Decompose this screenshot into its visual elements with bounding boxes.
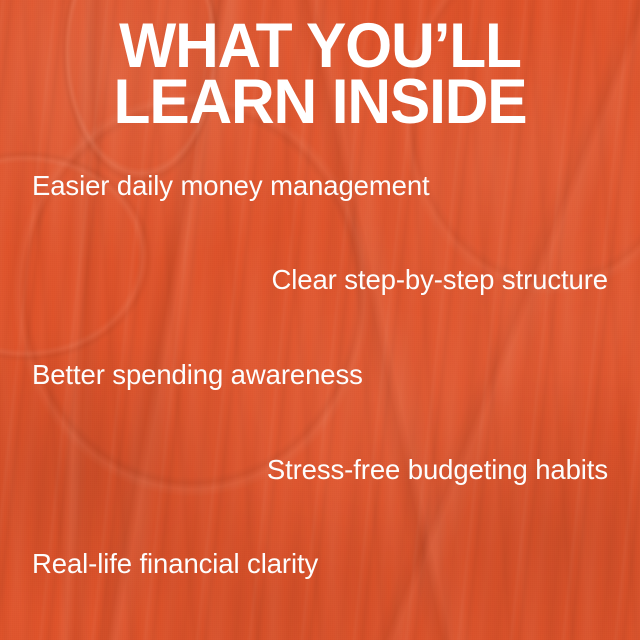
benefits-list: Easier daily money management Clear step… (0, 155, 640, 640)
poster-content: WHAT YOU’LL LEARN INSIDE Easier daily mo… (0, 0, 640, 640)
page-title: WHAT YOU’LL LEARN INSIDE (13, 18, 627, 130)
benefit-item-2: Clear step-by-step structure (272, 263, 609, 297)
benefit-item-3: Better spending awareness (32, 358, 363, 392)
benefit-item-5: Real-life financial clarity (32, 547, 318, 581)
promo-poster: WHAT YOU’LL LEARN INSIDE Easier daily mo… (0, 0, 640, 640)
benefit-item-1: Easier daily money management (32, 169, 430, 203)
benefit-item-4: Stress-free budgeting habits (267, 453, 608, 487)
